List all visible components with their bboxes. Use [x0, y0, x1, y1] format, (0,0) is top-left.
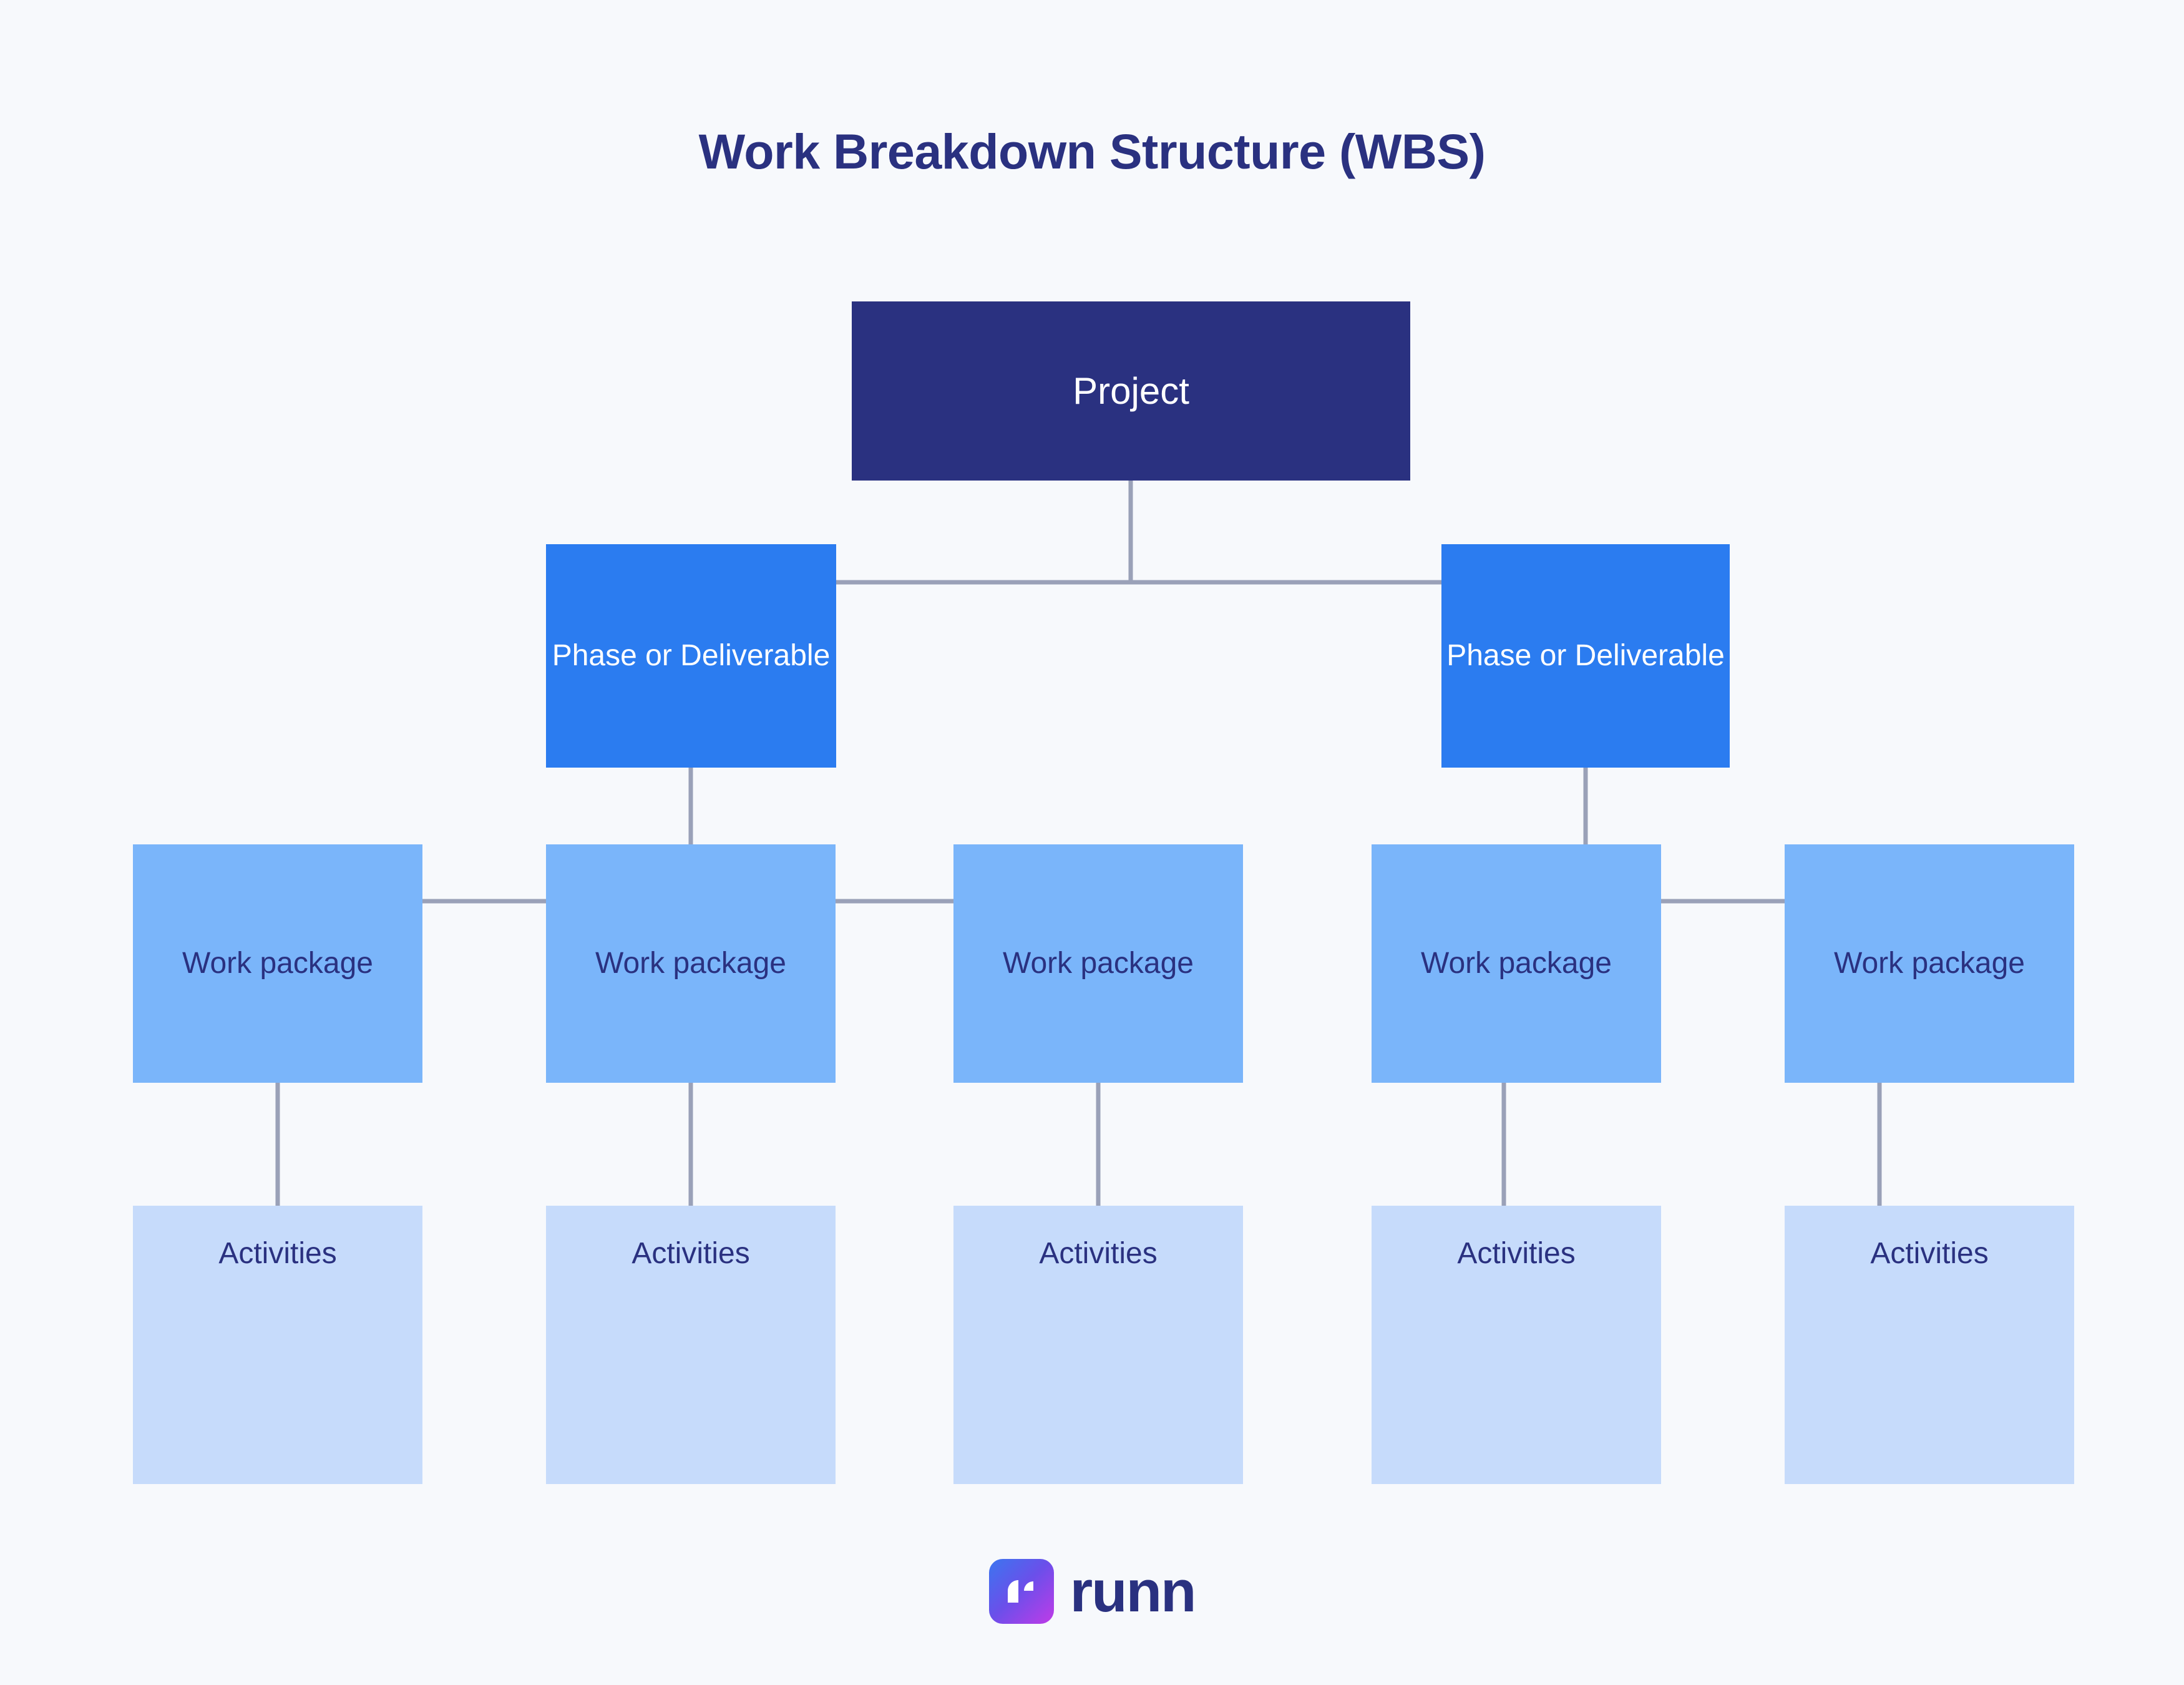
node-phase-1-label: Phase or Deliverable [552, 638, 831, 675]
node-work-package-4-label: Work package [1421, 945, 1612, 982]
node-work-package-4[interactable]: Work package [1372, 844, 1661, 1083]
wbs-diagram-page: Work Breakdown Structure (WBS) [0, 0, 2184, 1685]
node-activities-1-label: Activities [218, 1236, 336, 1272]
node-activities-3-label: Activities [1039, 1236, 1157, 1272]
node-work-package-1-label: Work package [182, 945, 373, 982]
runn-logo-icon [989, 1559, 1054, 1624]
node-project[interactable]: Project [852, 301, 1410, 481]
node-activities-5-label: Activities [1870, 1236, 1988, 1272]
node-work-package-5[interactable]: Work package [1785, 844, 2074, 1083]
brand-footer: runn [0, 1559, 2184, 1624]
node-activities-4[interactable]: Activities [1372, 1206, 1661, 1484]
brand-wordmark: runn [1070, 1562, 1196, 1621]
node-phase-2[interactable]: Phase or Deliverable [1441, 544, 1730, 768]
node-work-package-2-label: Work package [595, 945, 786, 982]
node-work-package-3-label: Work package [1003, 945, 1194, 982]
page-title: Work Breakdown Structure (WBS) [0, 124, 2184, 180]
node-activities-3[interactable]: Activities [953, 1206, 1243, 1484]
node-project-label: Project [1073, 368, 1189, 414]
node-activities-4-label: Activities [1457, 1236, 1575, 1272]
node-activities-2-label: Activities [631, 1236, 749, 1272]
node-activities-1[interactable]: Activities [133, 1206, 422, 1484]
node-work-package-1[interactable]: Work package [133, 844, 422, 1083]
node-phase-2-label: Phase or Deliverable [1446, 638, 1725, 675]
node-work-package-2[interactable]: Work package [546, 844, 836, 1083]
node-phase-1[interactable]: Phase or Deliverable [546, 544, 836, 768]
node-activities-5[interactable]: Activities [1785, 1206, 2074, 1484]
node-work-package-5-label: Work package [1834, 945, 2025, 982]
node-activities-2[interactable]: Activities [546, 1206, 836, 1484]
node-work-package-3[interactable]: Work package [953, 844, 1243, 1083]
